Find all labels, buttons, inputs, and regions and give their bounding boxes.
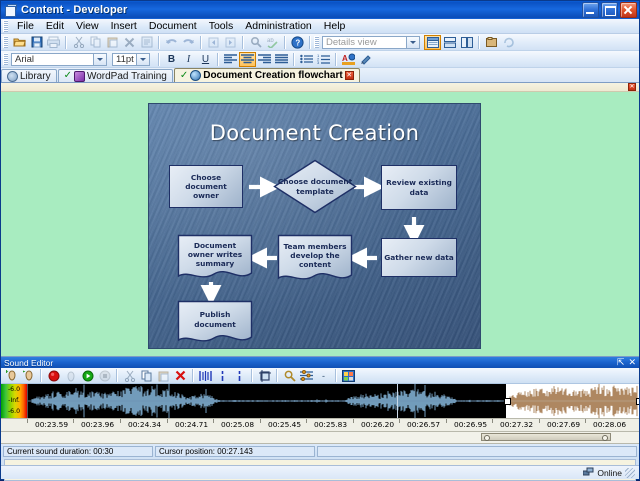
settings-icon[interactable] xyxy=(340,368,357,383)
toolbar-separator xyxy=(335,53,337,66)
copy-icon[interactable] xyxy=(138,368,155,383)
globe-icon xyxy=(190,70,201,81)
waveform-display[interactable] xyxy=(28,384,639,418)
marker-2-icon[interactable] xyxy=(231,368,248,383)
minimize-button[interactable] xyxy=(582,2,599,18)
flow-node-label: Publish document xyxy=(177,300,253,346)
level-meter-label: -6.0 xyxy=(1,387,27,393)
view-select[interactable]: Details view xyxy=(322,36,420,49)
sound-status-bar: Current sound duration: 00:30 Cursor pos… xyxy=(1,444,639,457)
format-toolbar-grip[interactable] xyxy=(3,53,8,65)
check-icon: ✓ xyxy=(64,71,72,81)
menu-item-document[interactable]: Document xyxy=(143,19,203,33)
close-button[interactable] xyxy=(620,2,637,18)
toolbar-grip[interactable] xyxy=(3,36,8,48)
font-size-value: 11pt xyxy=(116,54,134,65)
paste-icon xyxy=(155,368,172,383)
format-toolbar: Arial 11pt B I U 123 A xyxy=(1,51,639,68)
ruler-label: 00:25.08 xyxy=(221,420,254,429)
level-meter-label: -Inf. xyxy=(1,398,27,404)
levels-icon[interactable] xyxy=(298,368,315,383)
cut-icon xyxy=(70,35,87,50)
sound-editor-close-icon[interactable]: ✕ xyxy=(628,358,636,367)
ruler-label: 00:24.71 xyxy=(175,420,208,429)
delete-icon xyxy=(121,35,138,50)
menu-item-insert[interactable]: Insert xyxy=(105,19,143,33)
page-left-icon xyxy=(205,35,222,50)
ruler-tick xyxy=(120,419,121,423)
marker-1-icon[interactable] xyxy=(214,368,231,383)
ruler-label: 00:24.34 xyxy=(128,420,161,429)
flow-node-publish-document[interactable]: Publish document xyxy=(177,300,253,346)
flow-node-label: Choose document owner xyxy=(172,173,240,200)
delete-icon[interactable] xyxy=(172,368,189,383)
align-center-icon[interactable] xyxy=(239,52,256,67)
flow-node-gather-new-data[interactable]: Gather new data xyxy=(381,238,457,277)
redo-icon xyxy=(180,35,197,50)
cursor-position-status: Cursor position: 00:27.143 xyxy=(155,446,315,457)
waveform-range-slider[interactable] xyxy=(481,433,611,441)
toolbar-separator xyxy=(478,36,480,49)
check-icon: ✓ xyxy=(180,71,188,81)
undo-icon xyxy=(163,35,180,50)
ruler-tick xyxy=(539,419,540,423)
application-window: Content - Developer File Edit View Inser… xyxy=(0,0,640,480)
paste-icon xyxy=(104,35,121,50)
level-meter: -6.0 -Inf. -6.0 xyxy=(1,384,28,418)
toolbar-separator xyxy=(200,36,202,49)
range-handle-right[interactable] xyxy=(602,435,608,441)
select-all-icon[interactable] xyxy=(197,368,214,383)
menu-grip[interactable] xyxy=(3,20,8,32)
tab-library[interactable]: Library xyxy=(1,69,57,82)
toolbar-separator xyxy=(158,53,160,66)
print-icon xyxy=(45,35,62,50)
menu-bar: File Edit View Insert Document Tools Adm… xyxy=(1,19,639,34)
toolbar-separator xyxy=(309,36,311,49)
svg-text:3: 3 xyxy=(317,60,320,64)
wordpad-icon xyxy=(74,71,85,82)
waveform-graphic xyxy=(28,384,639,418)
ruler-tick xyxy=(213,419,214,423)
bold-button[interactable]: B xyxy=(163,52,180,67)
maximize-button[interactable] xyxy=(601,2,618,18)
flow-node-choose-document-template[interactable]: Choose document template xyxy=(273,159,357,214)
flow-node-label: Team members develop the content xyxy=(277,234,353,284)
find-icon xyxy=(247,35,264,50)
properties-icon xyxy=(138,35,155,50)
open-icon[interactable] xyxy=(11,35,28,50)
crop-icon[interactable] xyxy=(256,368,273,383)
insert-sound-icon[interactable] xyxy=(3,368,20,383)
flow-node-label: Choose document template xyxy=(275,177,355,195)
open-external-icon[interactable] xyxy=(483,35,500,50)
menu-item-help[interactable]: Help xyxy=(318,19,352,33)
ruler-label: 00:25.83 xyxy=(314,420,347,429)
font-color-icon[interactable]: A xyxy=(340,52,357,67)
chevron-down-icon[interactable] xyxy=(93,54,106,65)
ruler-tick xyxy=(353,419,354,423)
toolbar-separator xyxy=(217,53,219,66)
ruler-label: 00:28.06 xyxy=(593,420,626,429)
library-icon xyxy=(7,71,18,82)
toolbar-separator xyxy=(242,36,244,49)
level-meter-label: -6.0 xyxy=(1,409,27,415)
append-sound-icon[interactable] xyxy=(20,368,37,383)
stop-icon xyxy=(96,368,113,383)
dropdown-dash[interactable]: - xyxy=(315,368,332,383)
highlight-icon[interactable] xyxy=(357,52,374,67)
document-canvas[interactable]: Document Creation xyxy=(1,92,639,374)
stop-record-icon xyxy=(62,368,79,383)
help-icon[interactable]: ? xyxy=(289,35,306,50)
waveform-scroll-row[interactable] xyxy=(1,432,639,444)
cut-icon xyxy=(121,368,138,383)
flow-node-label: Review existing data xyxy=(384,178,454,196)
range-handle-left[interactable] xyxy=(484,435,490,441)
copy-icon xyxy=(87,35,104,50)
menu-item-edit[interactable]: Edit xyxy=(40,19,70,33)
network-icon xyxy=(583,467,594,479)
ruler-tick xyxy=(73,419,74,423)
tab-label: Document Creation flowchart xyxy=(203,70,342,81)
flow-node-label: Gather new data xyxy=(384,253,454,262)
sound-editor-panel: Sound Editor ⇱ ✕ xyxy=(1,356,639,479)
italic-button[interactable]: I xyxy=(180,52,197,67)
sound-editor-title: Sound Editor xyxy=(4,358,53,368)
page-right-icon xyxy=(222,35,239,50)
split-vertical-icon[interactable] xyxy=(458,35,475,50)
ruler-tick xyxy=(306,419,307,423)
tab-wordpad-training[interactable]: ✓ WordPad Training xyxy=(58,69,173,82)
align-right-icon[interactable] xyxy=(256,52,273,67)
flow-node-review-existing-data[interactable]: Review existing data xyxy=(381,165,457,210)
flow-node-choose-document-owner[interactable]: Choose document owner xyxy=(169,165,243,208)
slide: Document Creation xyxy=(148,103,481,349)
flow-node-label: Document owner writes summary xyxy=(177,234,253,282)
toolbar-separator xyxy=(65,36,67,49)
playback-cursor[interactable] xyxy=(397,384,398,418)
main-toolbar: ab ? Details view xyxy=(1,34,639,51)
ruler-label: 00:26.57 xyxy=(407,420,440,429)
tab-label: WordPad Training xyxy=(87,71,167,82)
tab-close-icon[interactable]: ✕ xyxy=(345,71,354,80)
title-bar: Content - Developer xyxy=(1,1,639,19)
window-title: Content - Developer xyxy=(21,4,582,16)
ruler-tick xyxy=(167,419,168,423)
zoom-icon[interactable] xyxy=(281,368,298,383)
chevron-down-icon[interactable] xyxy=(136,54,149,65)
save-icon[interactable] xyxy=(28,35,45,50)
view-select-value: Details view xyxy=(326,37,377,48)
document-tabs: Library ✓ WordPad Training ✓ Document Cr… xyxy=(1,68,639,83)
font-size-select[interactable]: 11pt xyxy=(112,53,150,66)
auto-hide-pin-icon[interactable]: ⇱ xyxy=(617,358,625,367)
menu-item-view[interactable]: View xyxy=(70,19,105,33)
ruler-tick xyxy=(27,419,28,423)
ruler-label: 00:23.96 xyxy=(81,420,114,429)
details-view-icon[interactable] xyxy=(424,35,441,50)
ruler-label: 00:26.95 xyxy=(454,420,487,429)
ruler-label: 00:27.69 xyxy=(547,420,580,429)
svg-text:A: A xyxy=(342,54,348,63)
toolbar-separator xyxy=(284,36,286,49)
ruler-label: 00:23.59 xyxy=(35,420,68,429)
record-icon[interactable] xyxy=(45,368,62,383)
ruler-tick xyxy=(260,419,261,423)
sound-duration-status: Current sound duration: 00:30 xyxy=(3,446,153,457)
refresh-icon xyxy=(500,35,517,50)
toolbar-separator xyxy=(192,369,194,382)
spellcheck-icon: ab xyxy=(264,35,281,50)
view-toolbar-grip[interactable] xyxy=(314,36,319,48)
toolbar-separator xyxy=(335,369,337,382)
status-filler xyxy=(317,446,637,457)
time-ruler[interactable]: 00:23.59 00:23.96 00:24.34 00:24.71 00:2… xyxy=(1,418,639,432)
menu-item-file[interactable]: File xyxy=(11,19,40,33)
waveform-area[interactable]: -6.0 -Inf. -6.0 xyxy=(1,384,639,418)
align-justify-icon[interactable] xyxy=(273,52,290,67)
ruler-tick xyxy=(585,419,586,423)
toolbar-separator xyxy=(116,369,118,382)
svg-text:?: ? xyxy=(295,38,300,47)
play-icon[interactable] xyxy=(79,368,96,383)
toolbar-separator xyxy=(251,369,253,382)
resize-grip[interactable] xyxy=(625,468,635,478)
tab-label: Library xyxy=(20,71,51,82)
numbered-list-icon[interactable]: 123 xyxy=(315,52,332,67)
ruler-tick xyxy=(492,419,493,423)
selection-handle-left[interactable] xyxy=(504,398,511,405)
font-family-select[interactable]: Arial xyxy=(11,53,107,66)
application-status-bar: Online xyxy=(1,465,639,479)
bullet-list-icon[interactable] xyxy=(298,52,315,67)
flow-node-document-owner-writes-summary[interactable]: Document owner writes summary xyxy=(177,234,253,282)
ruler-label: 00:27.32 xyxy=(500,420,533,429)
toolbar-separator xyxy=(40,369,42,382)
ruler-label: 00:26.20 xyxy=(361,420,394,429)
toolbar-separator xyxy=(158,36,160,49)
connection-status: Online xyxy=(597,468,622,478)
ruler-tick xyxy=(399,419,400,423)
svg-text:ab: ab xyxy=(267,38,274,44)
chevron-down-icon[interactable] xyxy=(406,37,419,48)
tab-document-creation-flowchart[interactable]: ✓ Document Creation flowchart ✕ xyxy=(174,68,360,82)
flow-node-team-members-develop-the-content[interactable]: Team members develop the content xyxy=(277,234,353,284)
align-left-icon[interactable] xyxy=(222,52,239,67)
content-header-strip: ✕ xyxy=(1,83,639,92)
ruler-label: 00:25.45 xyxy=(268,420,301,429)
window-controls xyxy=(582,2,637,18)
app-window-icon xyxy=(4,4,17,17)
toolbar-separator xyxy=(293,53,295,66)
menu-item-administration[interactable]: Administration xyxy=(239,19,318,33)
split-horizontal-icon[interactable] xyxy=(441,35,458,50)
font-family-value: Arial xyxy=(15,54,34,65)
underline-button[interactable]: U xyxy=(197,52,214,67)
content-close-icon[interactable]: ✕ xyxy=(628,83,636,91)
sound-editor-toolbar: - xyxy=(1,368,639,384)
ruler-tick xyxy=(446,419,447,423)
toolbar-separator xyxy=(276,369,278,382)
selection-handle-right[interactable] xyxy=(636,398,639,405)
menu-item-tools[interactable]: Tools xyxy=(203,19,240,33)
sound-editor-title-bar: Sound Editor ⇱ ✕ xyxy=(1,357,639,368)
